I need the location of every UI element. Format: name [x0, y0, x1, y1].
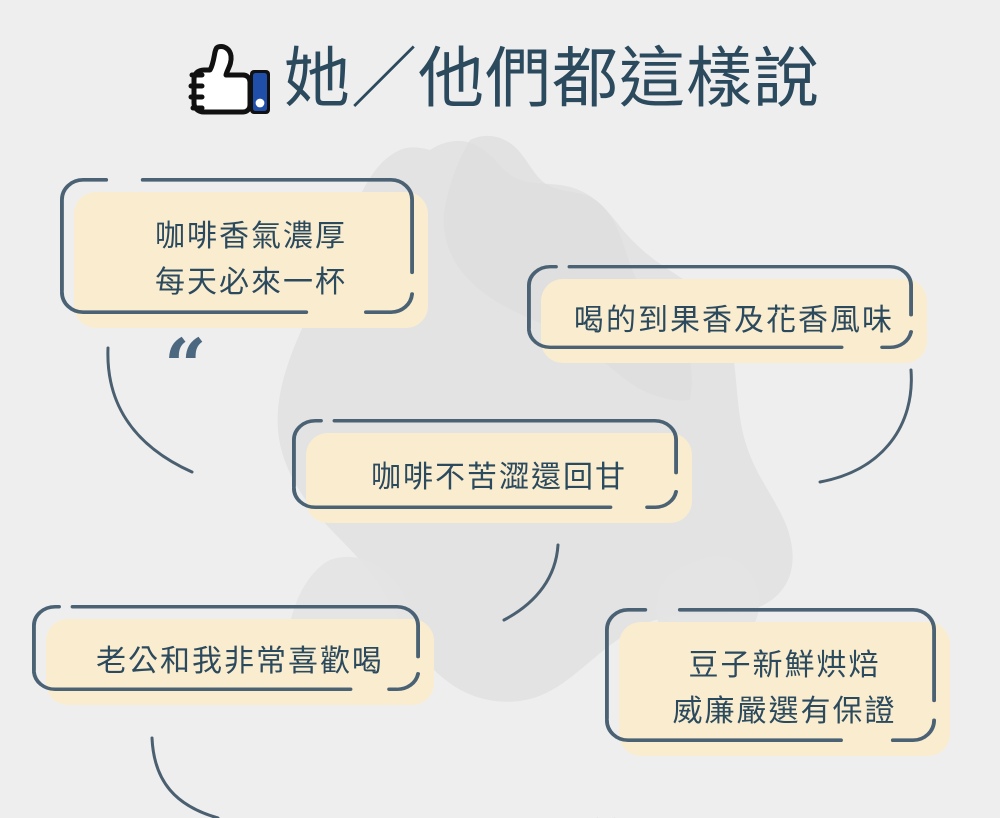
testimonial-line: 咖啡香氣濃厚: [155, 214, 347, 260]
testimonial-card-2-text: 喝的到果香及花香風味: [541, 279, 927, 363]
testimonial-card-4[interactable]: 老公和我非常喜歡喝 “ ”: [32, 605, 434, 705]
testimonial-card-5-text: 豆子新鮮烘焙 威廉嚴選有保證: [619, 622, 950, 756]
testimonial-card-5[interactable]: 豆子新鮮烘焙 威廉嚴選有保證 “ ”: [605, 608, 950, 756]
testimonial-card-1[interactable]: 咖啡香氣濃厚 每天必來一杯 “ ”: [60, 178, 428, 328]
quote-open-icon: “: [164, 330, 207, 404]
testimonial-line: 豆子新鮮烘焙: [689, 643, 881, 689]
testimonial-line: 每天必來一杯: [155, 260, 347, 306]
testimonial-infographic: 她／他們都這樣說 咖啡香氣濃厚 每天必來一杯 “ ”: [0, 0, 1000, 818]
testimonial-line: 咖啡不苦澀還回甘: [371, 455, 627, 501]
testimonial-line: 老公和我非常喜歡喝: [96, 639, 384, 685]
testimonial-card-1-text: 咖啡香氣濃厚 每天必來一杯: [74, 192, 428, 328]
testimonial-card-3-text: 咖啡不苦澀還回甘: [306, 433, 692, 523]
testimonial-card-3[interactable]: 咖啡不苦澀還回甘 “ ”: [292, 419, 692, 523]
quote-open-icon: “: [580, 811, 623, 818]
testimonial-card-2[interactable]: 喝的到果香及花香風味 “ ”: [527, 265, 927, 363]
testimonial-line: 威廉嚴選有保證: [673, 689, 897, 735]
testimonial-line: 喝的到果香及花香風味: [574, 298, 894, 344]
page-header: 她／他們都這樣說: [0, 26, 1000, 130]
testimonial-card-4-text: 老公和我非常喜歡喝: [46, 619, 434, 705]
page-title: 她／他們都這樣說: [284, 45, 820, 111]
thumbs-up-icon: [180, 39, 272, 117]
